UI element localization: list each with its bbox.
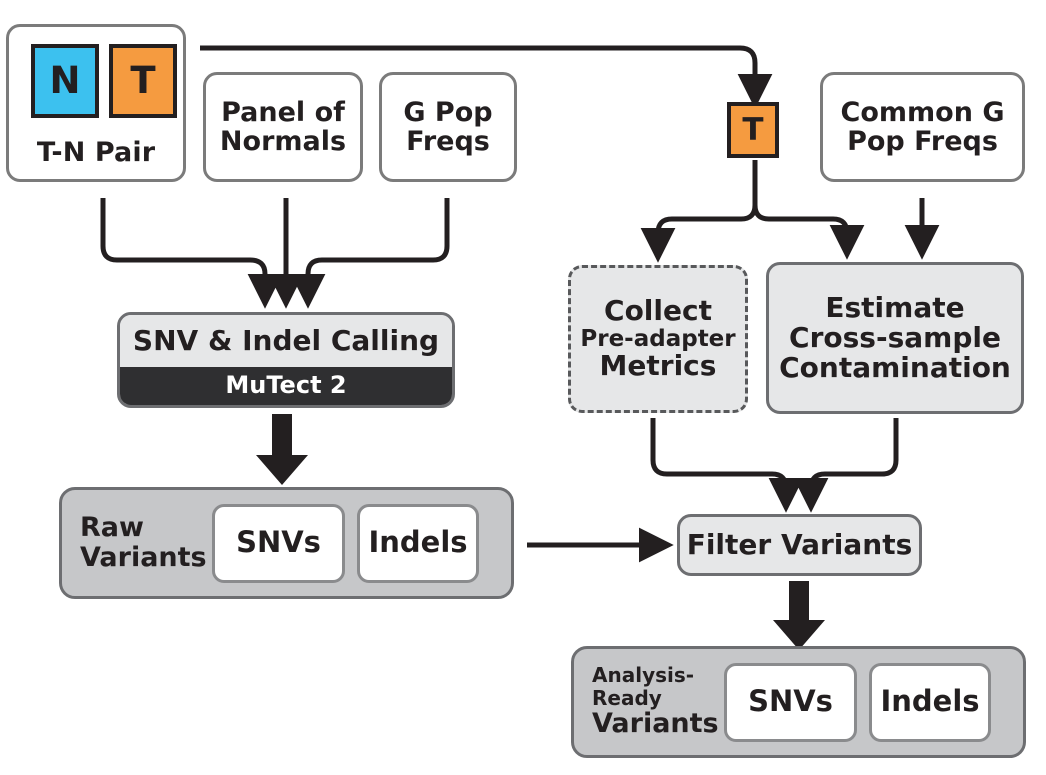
edge-tnpair-to-calling [103,198,265,300]
raw-variants-item-indels[interactable]: Indels [357,504,479,583]
edge-estimate-contamination-to-filter [811,418,896,504]
input-common-g-pop-freqs[interactable]: Common G Pop Freqs [820,72,1025,182]
process-estimate-cross-sample-contamination[interactable]: Estimate Cross-sample Contamination [766,262,1024,414]
snv-indel-calling-title: SNV & Indel Calling [120,315,452,367]
block-arrow-filter-to-analysis-ready [773,581,825,650]
panel-of-normals-line-1: Panel of [221,98,345,127]
estimate-contamination-line-1: Estimate [825,293,964,323]
snv-indel-calling-tool-badge: MuTect 2 [120,367,452,405]
edge-tumor-chip-to-collect-metrics [658,160,755,254]
analysis-ready-label: Analysis-Ready Variants [592,664,724,739]
normal-sample-chip[interactable]: N [31,44,99,118]
analysis-ready-label-big: Variants [592,709,724,739]
tumor-sample-chip[interactable]: T [109,44,177,118]
process-collect-pre-adapter-metrics[interactable]: Collect Pre-adapter Metrics [568,265,748,413]
estimate-contamination-line-2: Cross-sample [789,323,1001,353]
collect-metrics-line-2: Pre-adapter [580,327,735,352]
analysis-ready-item-snvs[interactable]: SNVs [724,663,857,742]
output-analysis-ready-variants[interactable]: Analysis-Ready Variants SNVs Indels [571,646,1026,758]
collect-metrics-line-3: Metrics [600,351,717,381]
raw-variants-label-line-2: Variants [80,542,207,573]
process-filter-variants[interactable]: Filter Variants [677,514,922,576]
input-tn-pair[interactable]: N T T-N Pair [6,24,186,182]
edge-g-pop-freqs-to-calling [308,198,447,300]
raw-variants-label: Raw Variants [80,513,212,572]
estimate-contamination-line-3: Contamination [779,353,1011,383]
process-snv-indel-calling[interactable]: SNV & Indel Calling MuTect 2 [117,312,455,408]
tn-pair-label: T-N Pair [37,138,155,167]
tn-pair-chips: N T [9,44,183,120]
edge-collect-metrics-to-filter [653,418,786,504]
raw-variants-item-snvs[interactable]: SNVs [212,504,345,583]
tumor-sample-chip-standalone[interactable]: T [727,102,779,158]
common-g-pop-freqs-line-1: Common G [841,98,1005,127]
input-g-pop-freqs[interactable]: G Pop Freqs [379,72,517,182]
g-pop-freqs-line-2: Freqs [406,127,490,156]
raw-variants-label-line-1: Raw [80,512,144,543]
g-pop-freqs-line-1: G Pop [403,98,492,127]
output-raw-variants[interactable]: Raw Variants SNVs Indels [59,487,514,599]
workflow-diagram-canvas: N T T-N Pair Panel of Normals G Pop Freq… [0,0,1046,775]
edge-tumor-chip-to-estimate-contamination [755,205,847,251]
input-panel-of-normals[interactable]: Panel of Normals [203,72,363,182]
collect-metrics-line-1: Collect [604,296,712,326]
common-g-pop-freqs-line-2: Pop Freqs [847,127,998,156]
block-arrow-calling-to-raw-variants [256,414,308,485]
analysis-ready-label-small: Analysis-Ready [592,664,724,709]
analysis-ready-item-indels[interactable]: Indels [869,663,991,742]
panel-of-normals-line-2: Normals [220,127,346,156]
